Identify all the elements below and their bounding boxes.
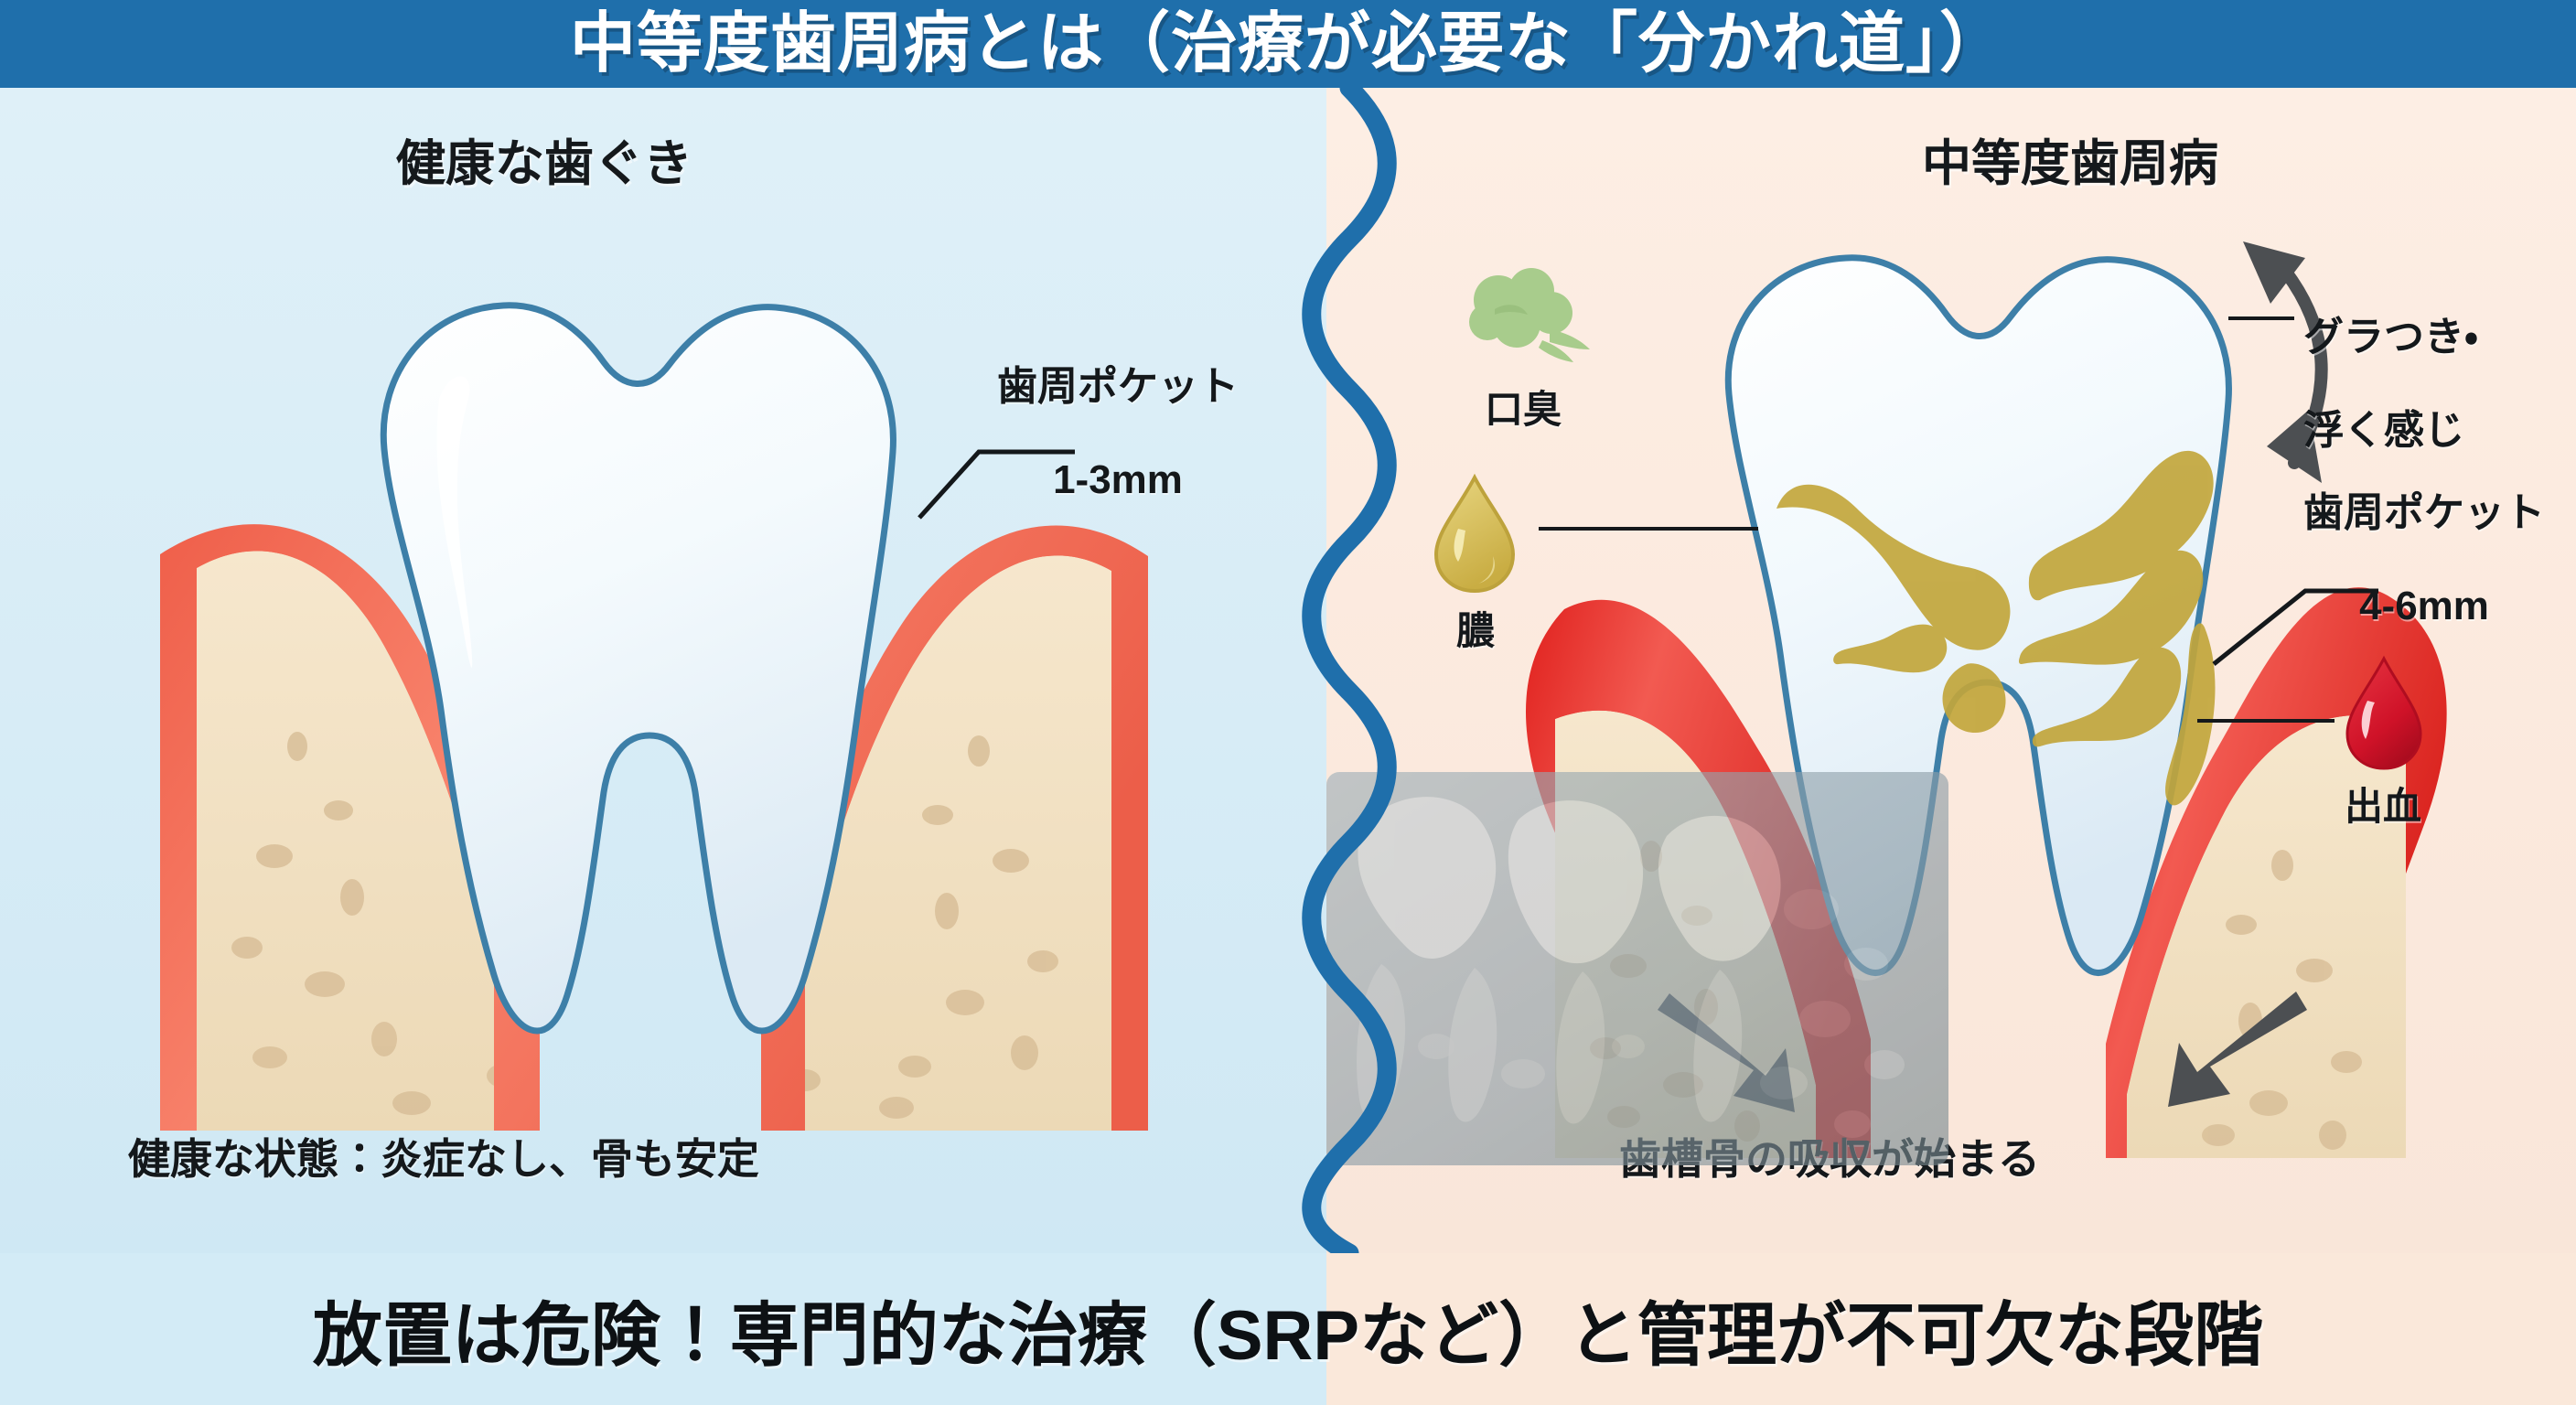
pus-droplet-icon [1427, 472, 1522, 595]
panel-left-heading: 健康な歯ぐき [0, 123, 1217, 195]
bottom-banner: 放置は危険！専門的な治療（SRPなど）と管理が不可欠な段階 [0, 1253, 2576, 1405]
pocket-label-diseased: 歯周ポケット 4-6mm [2303, 443, 2545, 676]
pus-label: 膿 [1407, 600, 1544, 656]
bad-breath-cloud-icon [1454, 262, 1592, 371]
banner-message: 放置は危険！専門的な治療（SRPなど）と管理が不可欠な段階 [0, 1279, 2576, 1379]
pus-leader-line [1539, 527, 1758, 531]
panel-right-heading: 中等度歯周病 [1445, 123, 2576, 195]
panel-moderate-periodontitis: 中等度歯周病 [1326, 88, 2576, 1253]
bleeding-leader-line [2197, 719, 2334, 723]
header-bar: 中等度歯周病とは（治療が必要な「分かれ道」） [0, 0, 2576, 88]
dental-xray-inset [1326, 772, 1948, 1165]
caption-healthy: 健康な状態：炎症なし、骨も安定 [128, 1126, 759, 1186]
infographic-poster: 健康な歯ぐき [0, 0, 2576, 1405]
page-title: 中等度歯周病とは（治療が必要な「分かれ道」） [570, 11, 2006, 77]
mobility-leader-line [2228, 316, 2294, 320]
blood-droplet-icon [2340, 655, 2428, 770]
bleeding-label: 出血 [2305, 776, 2461, 831]
panel-healthy-gums: 健康な歯ぐき [0, 88, 1345, 1253]
bad-breath-label: 口臭 [1436, 379, 1610, 434]
pocket-label-healthy: 歯周ポケット 1-3mm [997, 316, 1239, 550]
